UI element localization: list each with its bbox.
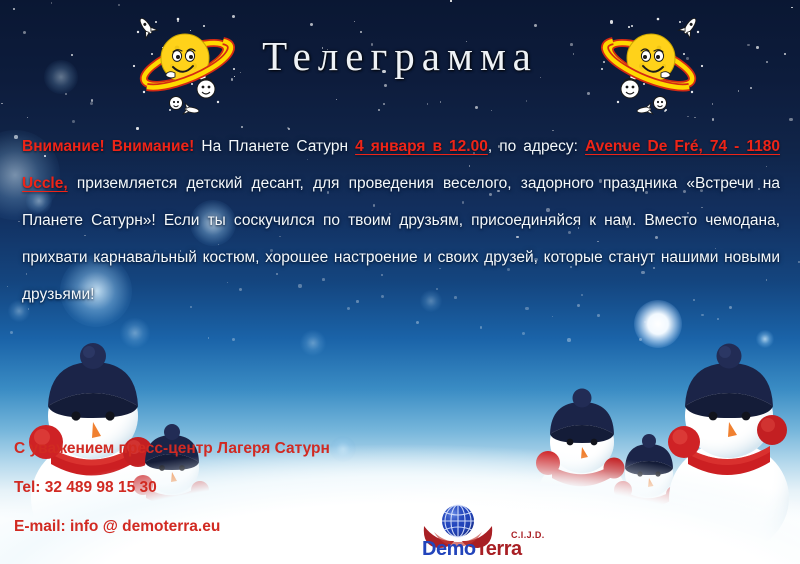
- moon-face-icon: [654, 97, 667, 110]
- star-icon: [522, 332, 525, 335]
- bokeh-light: [756, 330, 774, 348]
- star-icon: [644, 321, 646, 323]
- rocket-icon: [679, 15, 701, 39]
- rocket-icon: [135, 15, 157, 39]
- star-icon: [480, 326, 482, 328]
- announcement-text: Внимание! Внимание! На Планете Сатурн 4 …: [22, 128, 780, 313]
- lead-text: На Планете Сатурн: [194, 138, 355, 155]
- star-icon: [232, 338, 235, 341]
- star-icon: [10, 331, 13, 334]
- star-icon: [597, 314, 600, 317]
- star-icon: [717, 318, 719, 320]
- datetime-highlight: 4 января в 12.00: [355, 138, 488, 155]
- moon-face-icon: [621, 79, 639, 99]
- page-title: Телеграмма: [250, 32, 550, 80]
- saturn-mascot-icon: [126, 14, 244, 118]
- bokeh-light: [300, 330, 326, 356]
- star-icon: [639, 338, 642, 341]
- main-text: приземляется детский десант, для проведе…: [22, 175, 780, 303]
- star-icon: [208, 337, 210, 339]
- star-icon: [701, 314, 704, 317]
- moon-face-icon: [170, 97, 183, 110]
- star-icon: [18, 221, 20, 223]
- moon-face-icon: [197, 79, 215, 99]
- saturn-mascot-icon: [592, 14, 710, 118]
- poster-canvas: Телеграмма: [0, 0, 800, 564]
- rocket-icon: [636, 103, 653, 117]
- footer-signature: С уважением пресс-центр Лагеря Сатурн: [14, 439, 330, 459]
- bokeh-light: [120, 318, 150, 348]
- rocket-icon: [183, 103, 200, 117]
- star-icon: [7, 286, 8, 287]
- star-icon: [552, 316, 554, 318]
- after-datetime-text: , по адресу:: [488, 138, 585, 155]
- star-icon: [567, 338, 571, 342]
- footer-phone: Tel: 32 489 98 15 30: [14, 478, 330, 498]
- poster-header: Телеграмма: [0, 0, 800, 126]
- star-icon: [14, 135, 18, 139]
- star-icon: [416, 321, 419, 324]
- footer-contact-block: С уважением пресс-центр Лагеря Сатурн Te…: [14, 420, 330, 557]
- logo-wordmark-demo: DemoTerra: [422, 538, 523, 558]
- demoterra-logo: C.I.J.D. DemoTerra: [418, 500, 554, 558]
- star-icon: [798, 261, 800, 263]
- footer-email: E-mail: info @ demoterra.eu: [14, 517, 330, 537]
- alert-text: Внимание! Внимание!: [22, 138, 194, 155]
